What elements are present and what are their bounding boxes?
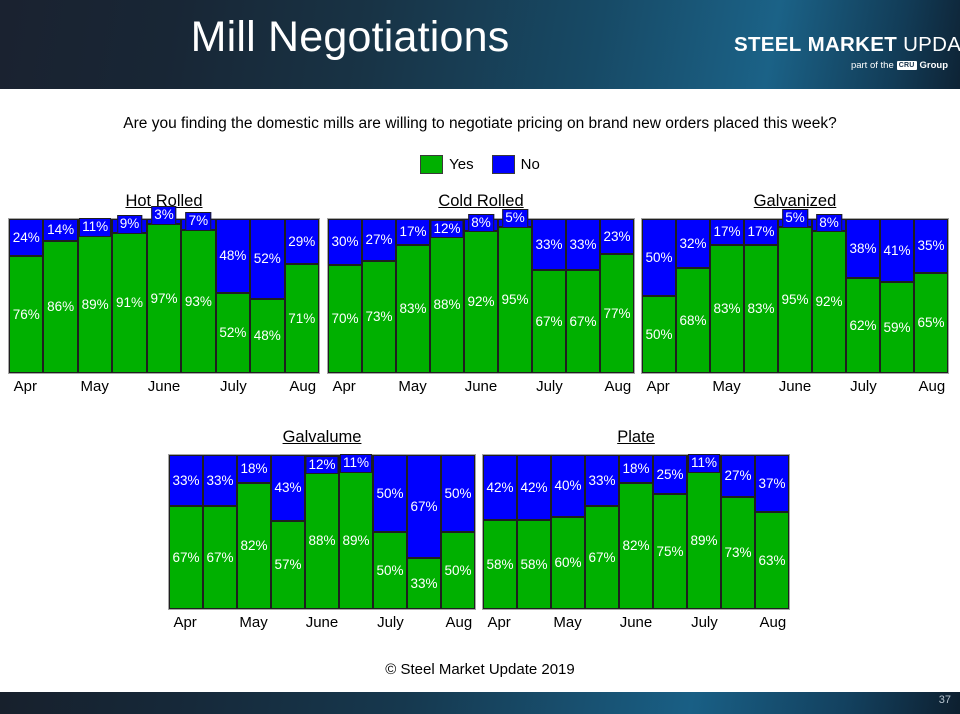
bar-segment-label-no: 50% xyxy=(645,251,672,265)
chart-hot-rolled: Hot Rolled24%76%14%86%11%89%9%91%3%97%7%… xyxy=(8,192,320,407)
cru-badge: CRU xyxy=(897,61,917,70)
bar-segment-label-no: 38% xyxy=(849,242,876,256)
bar-segment-label-yes: 58% xyxy=(520,558,547,572)
x-axis-tick: July xyxy=(687,614,721,631)
page-title: Mill Negotiations xyxy=(0,13,700,62)
bar-segment-label-no: 50% xyxy=(376,487,403,501)
bar-segment-yes[interactable]: 65% xyxy=(914,273,948,373)
bar-segment-no[interactable]: 8% xyxy=(812,219,846,231)
stacked-bar[interactable]: 35%65% xyxy=(914,219,948,373)
bar-segment-yes[interactable]: 50% xyxy=(373,532,407,609)
x-axis-tick: Apr xyxy=(327,378,361,395)
bar-segment-no[interactable]: 25% xyxy=(653,455,687,494)
chart-galvalume: Galvalume33%67%33%67%18%82%43%57%12%88%1… xyxy=(168,428,476,643)
bar-segment-label-yes: 59% xyxy=(883,321,910,335)
chart-cold-rolled: Cold Rolled30%70%27%73%17%83%12%88%8%92%… xyxy=(327,192,635,407)
x-axis-tick: May xyxy=(709,378,743,395)
chart-galvanized: Galvanized50%50%32%68%17%83%17%83%5%95%8… xyxy=(641,192,949,407)
bar-segment-yes[interactable]: 89% xyxy=(78,236,112,373)
bar-segment-label-yes: 50% xyxy=(645,328,672,342)
bar-segment-label-yes: 92% xyxy=(467,295,494,309)
x-axis-tick: Aug xyxy=(285,378,320,395)
bar-segment-no[interactable]: 50% xyxy=(642,219,676,296)
bar-segment-label-yes: 67% xyxy=(206,551,233,565)
legend-label-yes: Yes xyxy=(449,156,473,173)
bar-segment-yes[interactable]: 58% xyxy=(517,520,551,609)
bar-segment-label-no: 48% xyxy=(219,249,246,263)
stacked-bar[interactable]: 33%67% xyxy=(566,219,600,373)
slide-footer-bar: 37 xyxy=(0,692,960,714)
bar-segment-no[interactable]: 35% xyxy=(914,219,948,273)
bar-segment-label-no: 33% xyxy=(569,238,596,252)
bar-segment-no[interactable]: 52% xyxy=(250,219,284,299)
chart-title: Cold Rolled xyxy=(327,192,635,211)
bar-segment-label-yes: 68% xyxy=(679,314,706,328)
bar-segment-label-yes: 58% xyxy=(486,558,513,572)
bar-segment-label-yes: 60% xyxy=(554,556,581,570)
chart-legend: Yes No xyxy=(0,155,960,174)
stacked-bar[interactable]: 48%52% xyxy=(216,219,250,373)
page-number: 37 xyxy=(939,694,951,706)
bar-segment-label-yes: 67% xyxy=(535,315,562,329)
bar-segment-label-no: 18% xyxy=(622,462,649,476)
bar-segment-label-yes: 62% xyxy=(849,319,876,333)
bar-segment-label-no: 40% xyxy=(554,479,581,493)
bar-segment-no[interactable]: 50% xyxy=(441,455,475,532)
x-axis-tick: Apr xyxy=(8,378,43,395)
bar-segment-label-no: 41% xyxy=(883,244,910,258)
bar-segment-label-no: 11% xyxy=(340,454,372,473)
legend-item-no: No xyxy=(492,155,540,174)
bar-segment-label-no: 52% xyxy=(254,252,281,266)
bar-segment-no[interactable]: 5% xyxy=(498,219,532,227)
bar-segment-no[interactable]: 17% xyxy=(396,219,430,245)
plot-area: 42%58%42%58%40%60%33%67%18%82%25%75%11%8… xyxy=(482,454,790,610)
x-axis-tick: May xyxy=(236,614,270,631)
bar-segment-no[interactable]: 27% xyxy=(721,455,755,497)
x-axis-tick: June xyxy=(778,378,812,395)
copyright-text: © Steel Market Update 2019 xyxy=(0,661,960,678)
logo-subline: part of the CRU Group xyxy=(851,60,948,71)
bar-segment-label-yes: 89% xyxy=(690,534,717,548)
stacked-bar[interactable]: 32%68% xyxy=(676,219,710,373)
bar-segment-label-yes: 83% xyxy=(399,302,426,316)
bar-segment-no[interactable]: 42% xyxy=(517,455,551,520)
bar-segment-label-no: 33% xyxy=(535,238,562,252)
bar-segment-label-yes: 67% xyxy=(172,551,199,565)
plot-area: 33%67%33%67%18%82%43%57%12%88%11%89%50%5… xyxy=(168,454,476,610)
bar-segment-yes[interactable]: 89% xyxy=(339,472,373,609)
stacked-bar[interactable]: 52%48% xyxy=(250,219,284,373)
logo-word-update: UPDATE xyxy=(903,33,960,56)
bar-segment-no[interactable]: 17% xyxy=(744,219,778,245)
bar-segment-no[interactable]: 43% xyxy=(271,455,305,521)
bar-segment-label-no: 42% xyxy=(486,481,513,495)
stacked-bar[interactable]: 50%50% xyxy=(441,455,475,609)
x-axis-tick: July xyxy=(532,378,566,395)
bar-segment-label-yes: 65% xyxy=(917,316,944,330)
bar-segment-no[interactable]: 33% xyxy=(585,455,619,506)
plot-area: 50%50%32%68%17%83%17%83%5%95%8%92%38%62%… xyxy=(641,218,949,374)
logo-sub-prefix: part of the xyxy=(851,60,894,71)
bar-segment-no[interactable]: 33% xyxy=(169,455,203,506)
stacked-bar[interactable]: 33%67% xyxy=(532,219,566,373)
stacked-bar[interactable]: 11%89% xyxy=(339,455,373,609)
bar-segment-yes[interactable]: 50% xyxy=(642,296,676,373)
bar-segment-label-yes: 82% xyxy=(240,539,267,553)
bar-segment-yes[interactable]: 73% xyxy=(721,497,755,609)
legend-swatch-no xyxy=(492,155,515,174)
x-axis-tick: July xyxy=(216,378,251,395)
bar-segment-label-yes: 63% xyxy=(758,554,785,568)
stacked-bar[interactable]: 37%63% xyxy=(755,455,789,609)
bar-segment-no[interactable]: 12% xyxy=(305,455,339,473)
bar-segment-label-no: 35% xyxy=(917,239,944,253)
bar-segment-label-yes: 77% xyxy=(603,307,630,321)
bar-segment-no[interactable]: 37% xyxy=(755,455,789,512)
bar-segment-yes[interactable]: 95% xyxy=(498,227,532,373)
x-axis-tick: Aug xyxy=(601,378,635,395)
bar-segment-yes[interactable]: 83% xyxy=(396,245,430,373)
stacked-bar[interactable]: 8%92% xyxy=(464,219,498,373)
bar-segment-yes[interactable]: 67% xyxy=(585,506,619,609)
bar-segment-label-no: 5% xyxy=(502,209,528,228)
bar-segment-yes[interactable]: 67% xyxy=(566,270,600,373)
bar-segment-label-no: 23% xyxy=(603,230,630,244)
survey-question: Are you finding the domestic mills are w… xyxy=(0,115,960,133)
bar-segment-no[interactable]: 38% xyxy=(846,219,880,278)
stacked-bar[interactable]: 33%67% xyxy=(585,455,619,609)
x-axis-tick: Aug xyxy=(756,614,790,631)
bar-segment-label-yes: 67% xyxy=(588,551,615,565)
bar-segment-yes[interactable]: 88% xyxy=(305,473,339,609)
bar-segment-no[interactable]: 18% xyxy=(619,455,653,483)
x-axis-labels: Apr May June July Aug xyxy=(641,378,949,395)
bar-segment-yes[interactable]: 67% xyxy=(169,506,203,609)
bar-segment-yes[interactable]: 63% xyxy=(755,512,789,609)
bar-segment-label-yes: 75% xyxy=(656,545,683,559)
bar-segment-no[interactable]: 9% xyxy=(112,219,146,233)
x-axis-tick: May xyxy=(550,614,584,631)
x-axis-tick: June xyxy=(464,378,498,395)
bar-segment-yes[interactable]: 92% xyxy=(812,231,846,373)
bar-segment-yes[interactable]: 93% xyxy=(181,230,215,373)
bar-segment-label-yes: 95% xyxy=(781,293,808,307)
bar-segment-no[interactable]: 23% xyxy=(600,219,634,254)
stacked-bar[interactable]: 50%50% xyxy=(642,219,676,373)
bar-segment-no[interactable]: 33% xyxy=(532,219,566,270)
bar-segment-label-no: 37% xyxy=(758,477,785,491)
bar-segment-yes[interactable]: 77% xyxy=(600,254,634,373)
bar-segment-yes[interactable]: 52% xyxy=(216,293,250,373)
bar-segment-label-no: 9% xyxy=(117,215,143,234)
stacked-bar[interactable]: 33%67% xyxy=(203,455,237,609)
x-axis-tick: Aug xyxy=(915,378,949,395)
bar-segment-no[interactable]: 30% xyxy=(328,219,362,265)
bar-segment-yes[interactable]: 58% xyxy=(483,520,517,609)
legend-swatch-yes xyxy=(420,155,443,174)
bar-segment-yes[interactable]: 89% xyxy=(687,472,721,609)
bar-segment-yes[interactable]: 76% xyxy=(9,256,43,373)
bar-segment-yes[interactable]: 86% xyxy=(43,241,77,373)
stacked-bar[interactable]: 29%71% xyxy=(285,219,319,373)
bar-segment-label-no: 8% xyxy=(468,214,494,233)
bar-segment-yes[interactable]: 67% xyxy=(532,270,566,373)
chart-title: Plate xyxy=(482,428,790,447)
stacked-bar[interactable]: 25%75% xyxy=(653,455,687,609)
x-axis-labels: Apr May June July Aug xyxy=(8,378,320,395)
bar-segment-no[interactable]: 41% xyxy=(880,219,914,282)
x-axis-tick: May xyxy=(395,378,429,395)
stacked-bar[interactable]: 5%95% xyxy=(498,219,532,373)
bar-segment-no[interactable]: 11% xyxy=(78,219,112,236)
bar-segment-yes[interactable]: 33% xyxy=(407,558,441,609)
bar-segment-label-no: 3% xyxy=(151,206,177,225)
bar-segment-label-no: 17% xyxy=(713,225,740,239)
bar-segment-no[interactable]: 11% xyxy=(687,455,721,472)
bar-segment-label-no: 27% xyxy=(365,233,392,247)
bar-segment-no[interactable]: 3% xyxy=(147,219,181,224)
bar-segment-label-yes: 82% xyxy=(622,539,649,553)
bar-segment-label-yes: 86% xyxy=(47,300,74,314)
bar-segment-label-yes: 52% xyxy=(219,326,246,340)
bar-segment-label-no: 43% xyxy=(274,481,301,495)
bar-segment-label-yes: 33% xyxy=(410,577,437,591)
bar-segment-yes[interactable]: 48% xyxy=(250,299,284,373)
bar-segment-label-yes: 73% xyxy=(724,546,751,560)
stacked-bar[interactable]: 8%92% xyxy=(812,219,846,373)
bar-segment-yes[interactable]: 92% xyxy=(464,231,498,373)
stacked-bar[interactable]: 11%89% xyxy=(78,219,112,373)
x-axis-tick: Apr xyxy=(641,378,675,395)
x-axis-tick: Aug xyxy=(442,614,476,631)
stacked-bar[interactable]: 9%91% xyxy=(112,219,146,373)
bar-segment-label-no: 67% xyxy=(410,500,437,514)
bar-segment-yes[interactable]: 73% xyxy=(362,261,396,373)
stacked-bar[interactable]: 50%50% xyxy=(373,455,407,609)
bar-segment-label-no: 33% xyxy=(172,474,199,488)
slide-header-banner: Mill Negotiations STEEL MARKET UPDATE pa… xyxy=(0,0,960,89)
bar-segment-no[interactable]: 67% xyxy=(407,455,441,558)
bar-segment-no[interactable]: 14% xyxy=(43,219,77,241)
x-axis-tick: June xyxy=(305,614,339,631)
bar-segment-label-no: 33% xyxy=(588,474,615,488)
stacked-bar[interactable]: 23%77% xyxy=(600,219,634,373)
bar-segment-yes[interactable]: 60% xyxy=(551,517,585,609)
bar-segment-yes[interactable]: 68% xyxy=(676,268,710,373)
bar-segment-label-yes: 83% xyxy=(747,302,774,316)
stacked-bar[interactable]: 24%76% xyxy=(9,219,43,373)
bar-segment-label-yes: 89% xyxy=(342,534,369,548)
stacked-bar[interactable]: 5%95% xyxy=(778,219,812,373)
bar-segment-no[interactable]: 29% xyxy=(285,219,319,264)
bar-segment-no[interactable]: 50% xyxy=(373,455,407,532)
bar-segment-label-yes: 76% xyxy=(13,308,40,322)
bar-segment-label-no: 5% xyxy=(782,209,808,228)
bar-segment-yes[interactable]: 95% xyxy=(778,227,812,373)
stacked-bar[interactable]: 17%83% xyxy=(396,219,430,373)
bar-segment-yes[interactable]: 97% xyxy=(147,224,181,373)
bar-segment-label-yes: 50% xyxy=(444,564,471,578)
bar-segment-label-yes: 88% xyxy=(433,298,460,312)
bar-segment-no[interactable]: 33% xyxy=(203,455,237,506)
bar-segment-no[interactable]: 8% xyxy=(464,219,498,231)
bar-segment-label-yes: 48% xyxy=(254,329,281,343)
bar-segment-no[interactable]: 7% xyxy=(181,219,215,230)
bar-segment-yes[interactable]: 82% xyxy=(237,483,271,609)
bar-segment-yes[interactable]: 83% xyxy=(744,245,778,373)
bar-segment-label-yes: 57% xyxy=(274,558,301,572)
x-axis-tick: June xyxy=(619,614,653,631)
bar-segment-no[interactable]: 11% xyxy=(339,455,373,472)
bar-segment-no[interactable]: 24% xyxy=(9,219,43,256)
bar-segment-label-yes: 67% xyxy=(569,315,596,329)
stacked-bar[interactable]: 18%82% xyxy=(619,455,653,609)
plot-area: 24%76%14%86%11%89%9%91%3%97%7%93%48%52%5… xyxy=(8,218,320,374)
bar-segment-label-no: 7% xyxy=(186,212,212,231)
bar-segment-yes[interactable]: 70% xyxy=(328,265,362,373)
bar-segment-label-yes: 89% xyxy=(82,298,109,312)
chart-plate: Plate42%58%42%58%40%60%33%67%18%82%25%75… xyxy=(482,428,790,643)
stacked-bar[interactable]: 11%89% xyxy=(687,455,721,609)
bar-segment-no[interactable]: 12% xyxy=(430,219,464,237)
bar-segment-label-no: 12% xyxy=(305,456,338,475)
x-axis-tick: July xyxy=(846,378,880,395)
bar-segment-label-yes: 91% xyxy=(116,296,143,310)
logo-word-market: MARKET xyxy=(808,33,898,56)
bar-segment-label-no: 12% xyxy=(430,220,463,239)
bar-segment-no[interactable]: 48% xyxy=(216,219,250,293)
legend-label-no: No xyxy=(521,156,540,173)
bar-segment-no[interactable]: 32% xyxy=(676,219,710,268)
stacked-bar[interactable]: 12%88% xyxy=(430,219,464,373)
bar-segment-label-no: 29% xyxy=(288,235,315,249)
stacked-bar[interactable]: 40%60% xyxy=(551,455,585,609)
bar-segment-yes[interactable]: 91% xyxy=(112,233,146,373)
logo-word-steel: STEEL xyxy=(734,33,802,56)
bar-segment-label-yes: 95% xyxy=(501,293,528,307)
bar-segment-label-no: 42% xyxy=(520,481,547,495)
bar-segment-no[interactable]: 27% xyxy=(362,219,396,261)
stacked-bar[interactable]: 42%58% xyxy=(517,455,551,609)
bar-segment-no[interactable]: 42% xyxy=(483,455,517,520)
legend-item-yes: Yes xyxy=(420,155,473,174)
bar-segment-label-yes: 73% xyxy=(365,310,392,324)
bar-segment-no[interactable]: 40% xyxy=(551,455,585,517)
stacked-bar[interactable]: 7%93% xyxy=(181,219,215,373)
bar-segment-label-no: 30% xyxy=(331,235,358,249)
bar-segment-yes[interactable]: 83% xyxy=(710,245,744,373)
bar-segment-label-no: 24% xyxy=(13,231,40,245)
x-axis-labels: Apr May June July Aug xyxy=(327,378,635,395)
plot-area: 30%70%27%73%17%83%12%88%8%92%5%95%33%67%… xyxy=(327,218,635,374)
bar-segment-label-yes: 71% xyxy=(288,312,315,326)
stacked-bar[interactable]: 33%67% xyxy=(169,455,203,609)
stacked-bar[interactable]: 41%59% xyxy=(880,219,914,373)
bar-segment-label-no: 32% xyxy=(679,237,706,251)
stacked-bar[interactable]: 14%86% xyxy=(43,219,77,373)
x-axis-tick: May xyxy=(77,378,112,395)
bar-segment-yes[interactable]: 82% xyxy=(619,483,653,609)
x-axis-tick: June xyxy=(147,378,182,395)
bar-segment-no[interactable]: 18% xyxy=(237,455,271,483)
bar-segment-label-yes: 50% xyxy=(376,564,403,578)
x-axis-tick: Apr xyxy=(168,614,202,631)
stacked-bar[interactable]: 42%58% xyxy=(483,455,517,609)
bar-segment-yes[interactable]: 50% xyxy=(441,532,475,609)
bar-segment-label-no: 14% xyxy=(47,223,74,237)
bar-segment-yes[interactable]: 59% xyxy=(880,282,914,373)
stacked-bar[interactable]: 12%88% xyxy=(305,455,339,609)
bar-segment-yes[interactable]: 62% xyxy=(846,278,880,373)
x-axis-tick: July xyxy=(373,614,407,631)
stacked-bar[interactable]: 67%33% xyxy=(407,455,441,609)
x-axis-labels: Apr May June July Aug xyxy=(168,614,476,631)
bar-segment-no[interactable]: 5% xyxy=(778,219,812,227)
bar-segment-no[interactable]: 33% xyxy=(566,219,600,270)
steel-market-update-logo: STEEL MARKET UPDATE part of the CRU Grou… xyxy=(710,12,950,80)
bar-segment-label-no: 11% xyxy=(688,454,720,473)
bar-segment-label-yes: 83% xyxy=(713,302,740,316)
chart-title: Galvalume xyxy=(168,428,476,447)
logo-sub-suffix: Group xyxy=(920,60,949,71)
bar-segment-no[interactable]: 17% xyxy=(710,219,744,245)
stacked-bar[interactable]: 30%70% xyxy=(328,219,362,373)
stacked-bar[interactable]: 38%62% xyxy=(846,219,880,373)
bar-segment-label-no: 17% xyxy=(747,225,774,239)
bar-segment-yes[interactable]: 75% xyxy=(653,494,687,610)
stacked-bar[interactable]: 27%73% xyxy=(362,219,396,373)
bar-segment-label-yes: 88% xyxy=(308,534,335,548)
bar-segment-yes[interactable]: 57% xyxy=(271,521,305,609)
bar-segment-yes[interactable]: 67% xyxy=(203,506,237,609)
stacked-bar[interactable]: 17%83% xyxy=(744,219,778,373)
bar-segment-label-yes: 93% xyxy=(185,295,212,309)
x-axis-tick: Apr xyxy=(482,614,516,631)
bar-segment-label-no: 50% xyxy=(444,487,471,501)
stacked-bar[interactable]: 17%83% xyxy=(710,219,744,373)
stacked-bar[interactable]: 27%73% xyxy=(721,455,755,609)
bar-segment-label-no: 8% xyxy=(816,214,842,233)
bar-segment-label-no: 25% xyxy=(656,468,683,482)
bar-segment-label-no: 27% xyxy=(724,469,751,483)
bar-segment-label-no: 18% xyxy=(240,462,267,476)
bar-segment-label-no: 33% xyxy=(206,474,233,488)
bar-segment-yes[interactable]: 88% xyxy=(430,237,464,373)
bar-segment-label-yes: 70% xyxy=(331,312,358,326)
bar-segment-label-no: 17% xyxy=(399,225,426,239)
stacked-bar[interactable]: 18%82% xyxy=(237,455,271,609)
stacked-bar[interactable]: 3%97% xyxy=(147,219,181,373)
bar-segment-label-yes: 97% xyxy=(150,292,177,306)
chart-title: Galvanized xyxy=(641,192,949,211)
bar-segment-label-no: 11% xyxy=(79,218,111,237)
stacked-bar[interactable]: 43%57% xyxy=(271,455,305,609)
x-axis-labels: Apr May June July Aug xyxy=(482,614,790,631)
bar-segment-label-yes: 92% xyxy=(815,295,842,309)
logo-wordmark: STEEL MARKET UPDATE xyxy=(734,33,960,57)
bar-segment-yes[interactable]: 71% xyxy=(285,264,319,373)
